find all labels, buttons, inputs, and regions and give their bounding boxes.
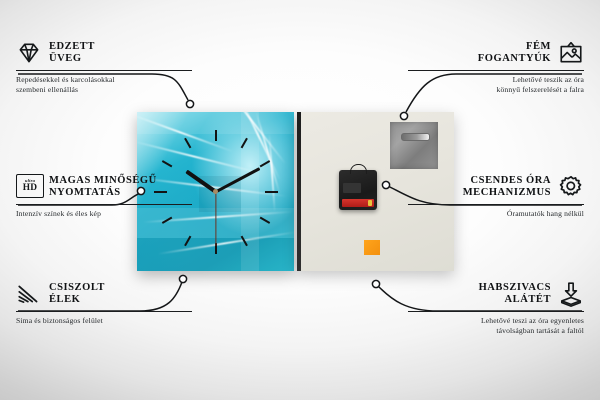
callout-divider bbox=[408, 311, 584, 312]
battery bbox=[342, 199, 374, 207]
callout-title: EDZETT ÜVEG bbox=[49, 41, 95, 66]
picture-frame-hanger-icon bbox=[558, 40, 584, 66]
clock-hub bbox=[213, 189, 218, 194]
callout-divider bbox=[16, 70, 192, 71]
wire-dot-metal-handles bbox=[400, 112, 407, 119]
callout-hd-print: ultra HD MAGAS MINŐSÉGŰ NYOMTATÁS Intenz… bbox=[16, 174, 192, 219]
callout-tempered-glass: EDZETT ÜVEG Repedésekkel és karcolásokka… bbox=[16, 40, 192, 94]
ultra-hd-badge-icon: ultra HD bbox=[16, 174, 42, 200]
callout-header: FÉM FOGANTYÚK bbox=[408, 40, 584, 66]
arrow-onto-pad-icon bbox=[558, 281, 584, 307]
callout-title: CSENDES ÓRA MECHANIZMUS bbox=[463, 175, 551, 200]
product-feature-infographic: EDZETT ÜVEG Repedésekkel és karcolásokka… bbox=[0, 0, 600, 400]
callout-title: HABSZIVACS ALÁTÉT bbox=[479, 282, 551, 307]
callout-description: Óramutatók hang nélkül bbox=[408, 209, 584, 219]
callout-foam-pad: HABSZIVACS ALÁTÉT Lehetővé teszi az óra … bbox=[408, 281, 584, 335]
diamond-icon bbox=[16, 40, 42, 66]
clock-mechanism-box bbox=[339, 170, 377, 210]
callout-divider bbox=[408, 70, 584, 71]
wire-dot-foam-pad bbox=[372, 280, 379, 287]
callout-header: ultra HD MAGAS MINŐSÉGŰ NYOMTATÁS bbox=[16, 174, 192, 200]
callout-divider bbox=[16, 204, 192, 205]
mechanism-seam bbox=[343, 183, 361, 193]
callout-header: CSENDES ÓRA MECHANIZMUS bbox=[408, 174, 584, 200]
callout-header: EDZETT ÜVEG bbox=[16, 40, 192, 66]
ultra-hd-badge-main: HD bbox=[23, 184, 37, 193]
callout-description: Intenzív színek és éles kép bbox=[16, 209, 192, 219]
diagonal-lines-icon bbox=[16, 281, 42, 307]
callout-metal-handles: FÉM FOGANTYÚK Lehetővé teszik az óra kön… bbox=[408, 40, 584, 94]
callout-title: CSISZOLT ÉLEK bbox=[49, 282, 105, 307]
callout-header: HABSZIVACS ALÁTÉT bbox=[408, 281, 584, 307]
wire-dot-silent-movement bbox=[382, 181, 389, 188]
callout-divider bbox=[16, 311, 192, 312]
hanger-slot bbox=[401, 133, 430, 141]
callout-divider bbox=[408, 204, 584, 205]
callout-title: MAGAS MINŐSÉGŰ NYOMTATÁS bbox=[49, 175, 157, 200]
gear-icon bbox=[558, 174, 584, 200]
minute-hand bbox=[215, 167, 261, 193]
callout-header: CSISZOLT ÉLEK bbox=[16, 281, 192, 307]
battery-terminal bbox=[368, 200, 372, 206]
mechanism-loop bbox=[350, 164, 367, 174]
foam-spacer-pad bbox=[364, 240, 380, 255]
callout-title: FÉM FOGANTYÚK bbox=[478, 41, 551, 66]
callout-description: Sima és biztonságos felület bbox=[16, 316, 192, 326]
callout-description: Repedésekkel és karcolásokkal szembeni e… bbox=[16, 75, 192, 94]
callout-description: Lehetővé teszi az óra egyenletes távolsá… bbox=[408, 316, 584, 335]
callout-description: Lehetővé teszik az óra könnyű felszerelé… bbox=[408, 75, 584, 94]
second-hand bbox=[215, 192, 216, 246]
metal-hanger-plate bbox=[390, 122, 438, 169]
callout-silent-movement: CSENDES ÓRA MECHANIZMUS Óramutatók hang … bbox=[408, 174, 584, 219]
wire-dot-tempered-glass bbox=[186, 100, 193, 107]
callout-polished-edges: CSISZOLT ÉLEK Sima és biztonságos felüle… bbox=[16, 281, 192, 326]
